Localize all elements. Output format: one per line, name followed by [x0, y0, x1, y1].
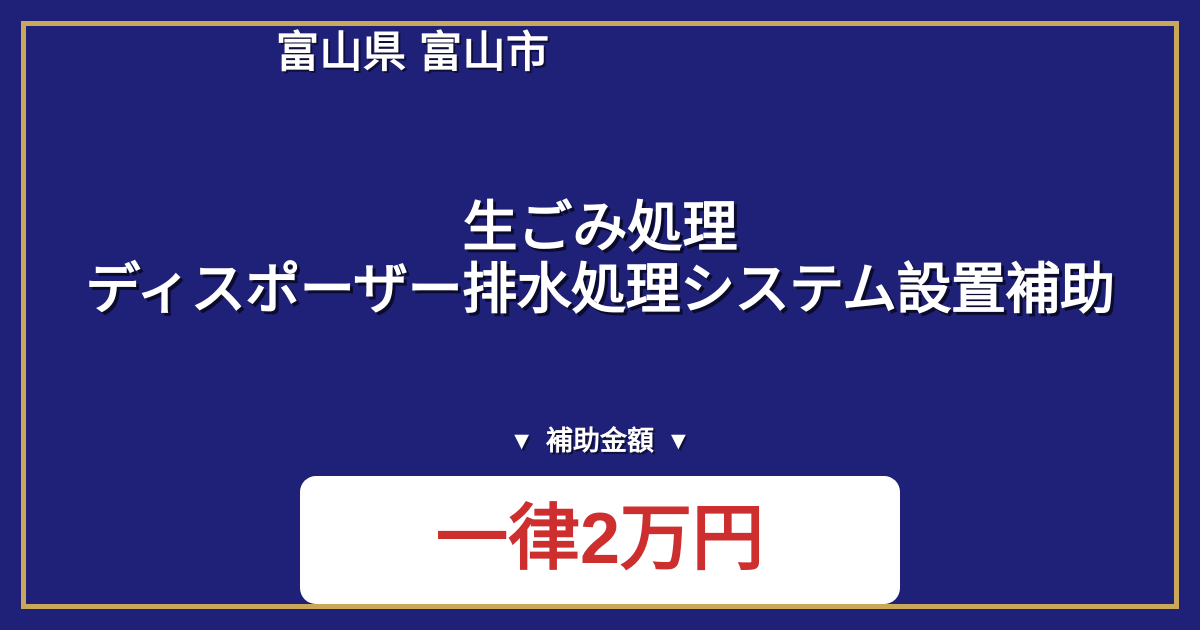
subsidy-poster: 富山県 富山市 生ごみ処理 ディスポーザー排水処理システム設置補助 ▼ 補助金額… [0, 0, 1200, 630]
subsidy-amount-badge: 一律2万円 [300, 476, 900, 604]
triangle-down-left-icon: ▼ [509, 429, 534, 454]
subsidy-amount-heading-label: 補助金額 [546, 428, 654, 455]
locality-label: 富山県 富山市 [276, 32, 549, 75]
title-line-2: ディスポーザー排水処理システム設置補助 [0, 258, 1200, 320]
page-title: 生ごみ処理 ディスポーザー排水処理システム設置補助 [0, 196, 1200, 320]
subsidy-amount-value: 一律2万円 [436, 503, 764, 575]
header-row: 富山県 富山市 [0, 26, 1200, 80]
triangle-down-right-icon: ▼ [666, 429, 691, 454]
subsidy-amount-heading-row: ▼ 補助金額 ▼ [0, 428, 1200, 455]
title-line-1: 生ごみ処理 [0, 196, 1200, 258]
subsidy-amount-heading: ▼ 補助金額 ▼ [509, 428, 691, 455]
